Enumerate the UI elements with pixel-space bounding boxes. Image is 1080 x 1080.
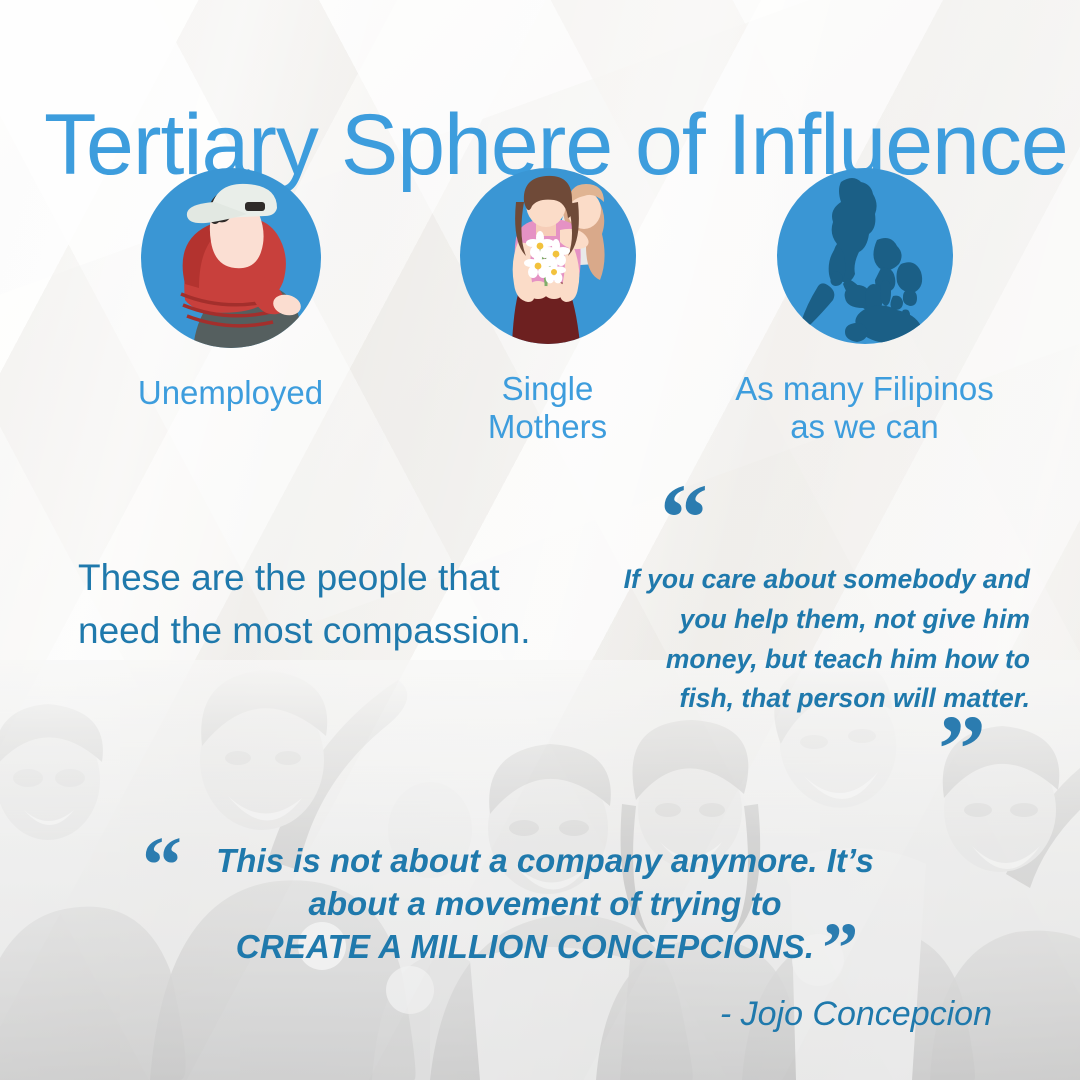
quote-close-mark-icon: ” bbox=[610, 723, 1030, 785]
quote-bottom-line1-text: This is not about a company anymore. It’… bbox=[216, 842, 874, 879]
sphere-item-filipinos: As many Filipinos as we can bbox=[722, 168, 1007, 445]
sphere-item-unemployed: Unemployed bbox=[88, 168, 373, 412]
sphere-label-line2: Mothers bbox=[488, 408, 607, 445]
sphere-label-single-mothers: Single Mothers bbox=[405, 370, 690, 445]
quote-block-top: “ If you care about somebody and you hel… bbox=[610, 492, 1030, 785]
quote-attribution: - Jojo Concepcion bbox=[720, 995, 992, 1034]
sphere-label-line1: Single bbox=[502, 370, 594, 407]
infographic-poster: Tertiary Sphere of Influence bbox=[0, 0, 1080, 1080]
sphere-label-unemployed: Unemployed bbox=[88, 374, 373, 412]
sphere-label-line2: as we can bbox=[790, 408, 939, 445]
quote-block-bottom: “ This is not about a company anymore. I… bbox=[120, 840, 970, 969]
unemployed-young-man-icon bbox=[141, 168, 321, 348]
philippines-map-icon bbox=[777, 168, 953, 344]
quote-bottom-line3: CREATE A MILLION CONCEPCIONS.” bbox=[120, 926, 970, 969]
sphere-label-filipinos: As many Filipinos as we can bbox=[722, 370, 1007, 445]
statement-text: These are the people that need the most … bbox=[78, 552, 548, 657]
quote-bottom-line3-text: CREATE A MILLION CONCEPCIONS. bbox=[236, 928, 814, 965]
sphere-label-line1: As many Filipinos bbox=[735, 370, 994, 407]
quote-bottom-line1: “ This is not about a company anymore. I… bbox=[120, 840, 970, 883]
sphere-item-single-mothers: Single Mothers bbox=[405, 168, 690, 445]
quote-open-mark-icon: “ bbox=[610, 492, 1030, 538]
sphere-icon-row: Unemployed bbox=[0, 168, 1080, 468]
single-mother-with-child-icon bbox=[460, 168, 636, 344]
